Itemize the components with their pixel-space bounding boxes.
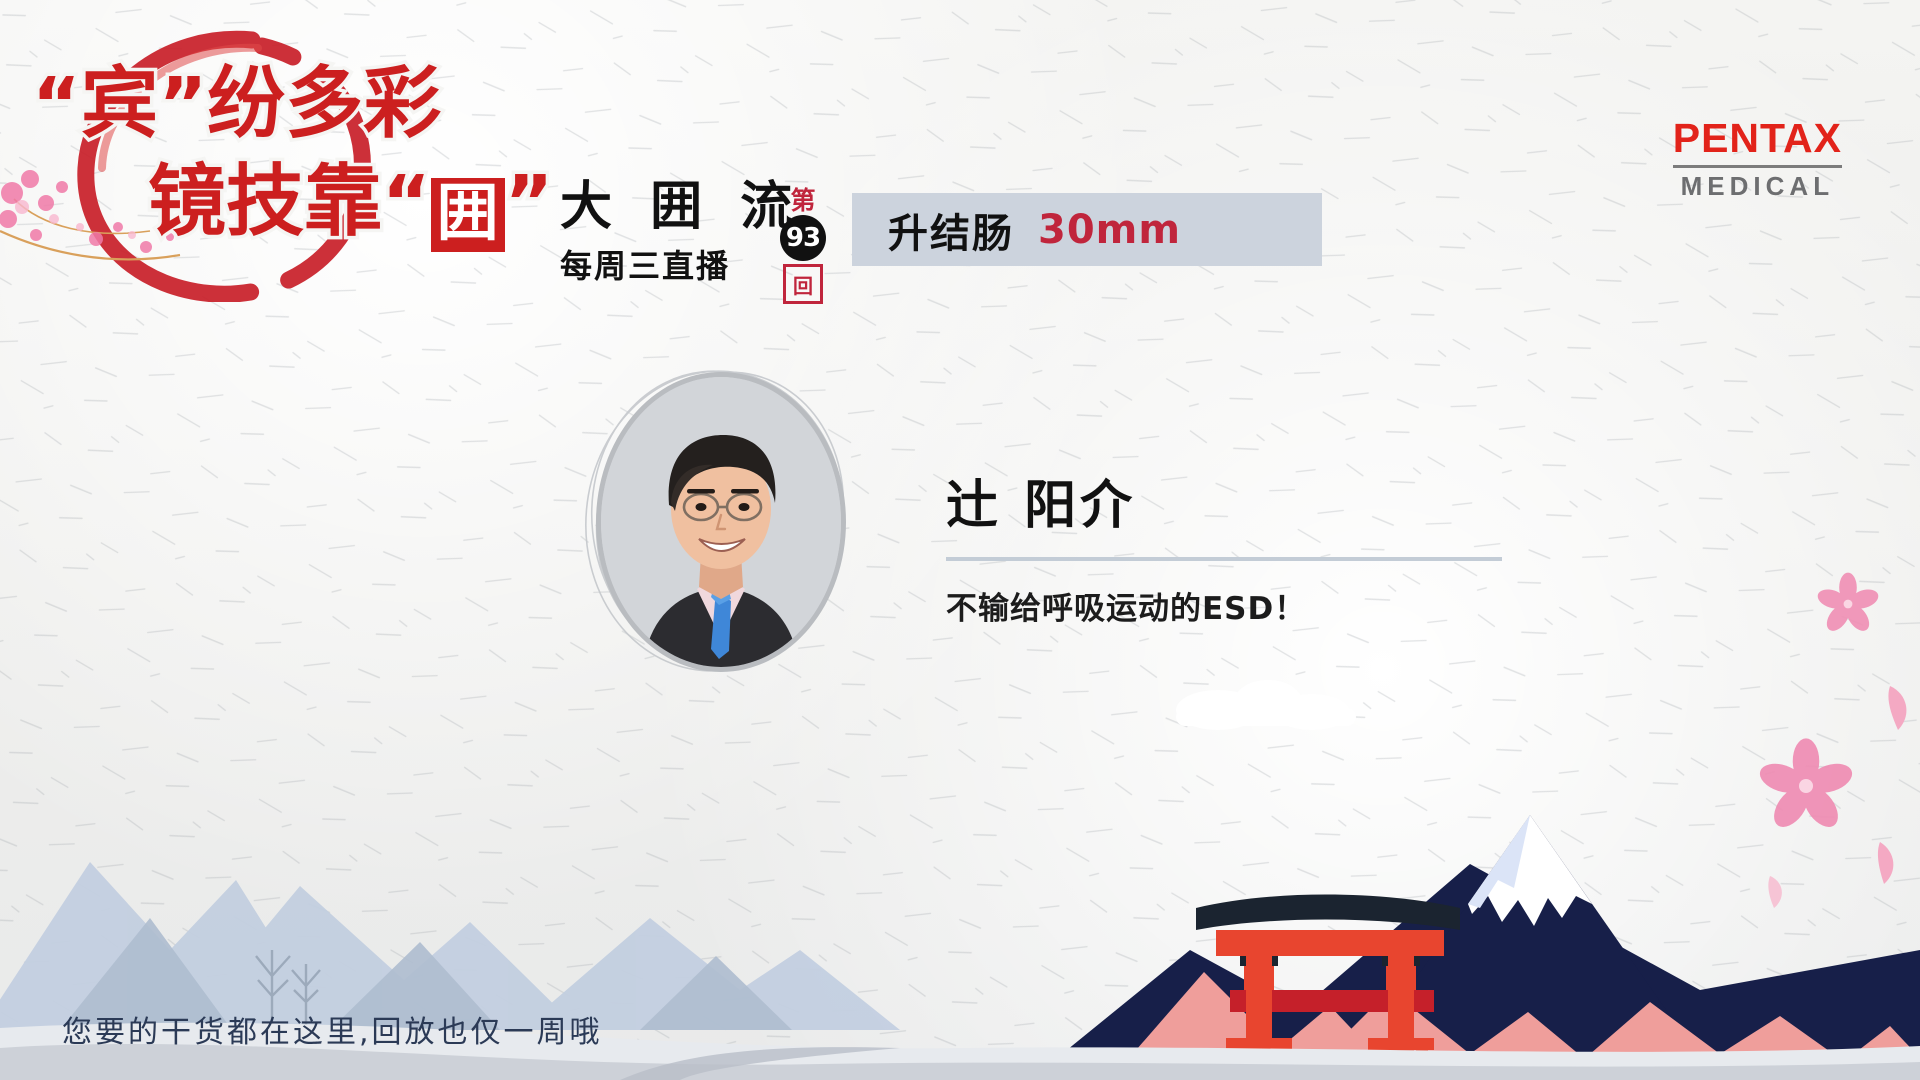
footer-note: 您要的干货都在这里,回放也仅一周哦 [62, 1007, 603, 1051]
title-line-2: 镜技靠“囲” [148, 163, 553, 252]
title-line-1-rest: 纷多彩 [207, 59, 441, 149]
program-title: “宾”纷多彩 镜技靠“囲” [10, 55, 530, 275]
title-line-2-rest: 镜技靠 [148, 157, 382, 247]
title-line-1: “宾”纷多彩 [32, 65, 441, 143]
speaker-name: 辻 阳介 [946, 478, 1526, 535]
title-quote-open-2: “ [382, 160, 431, 246]
pentax-medical-logo: PENTAX MEDICAL [1673, 118, 1842, 199]
logo-medical-text: MEDICAL [1673, 173, 1842, 199]
episode-suffix: 回 [783, 264, 823, 304]
title-keyword-1: 宾 [81, 59, 159, 149]
case-lesion-size: 30mm [1038, 207, 1181, 253]
speaker-divider [946, 557, 1502, 561]
title-quote-close-2: ” [505, 160, 554, 246]
cloud [1176, 680, 1356, 730]
episode-number: 93 [780, 215, 826, 261]
title-boxed-keyword: 囲 [431, 178, 505, 252]
case-site-label: 升结肠 [888, 201, 1014, 259]
logo-divider [1673, 165, 1842, 168]
speaker-avatar [596, 372, 846, 672]
episode-badge: 第 93 回 [775, 188, 831, 304]
case-info-banner: 升结肠 30mm [852, 193, 1322, 266]
sakura-blossom-right-icon [1740, 560, 1920, 920]
title-quote-close: ” [159, 62, 208, 148]
speaker-portrait-frame [582, 364, 852, 674]
speaker-info: 辻 阳介 不输给呼吸运动的ESD！ [946, 478, 1526, 628]
speaker-topic: 不输给呼吸运动的ESD！ [946, 583, 1526, 628]
title-quote-open: “ [32, 62, 81, 148]
episode-prefix: 第 [775, 188, 831, 213]
avatar-illustration [601, 377, 841, 667]
slide-canvas: “宾”纷多彩 镜技靠“囲” 大 囲 流 每周三直播 第 93 回 升结肠 30m… [0, 0, 1920, 1080]
logo-pentax-text: PENTAX [1673, 118, 1842, 159]
